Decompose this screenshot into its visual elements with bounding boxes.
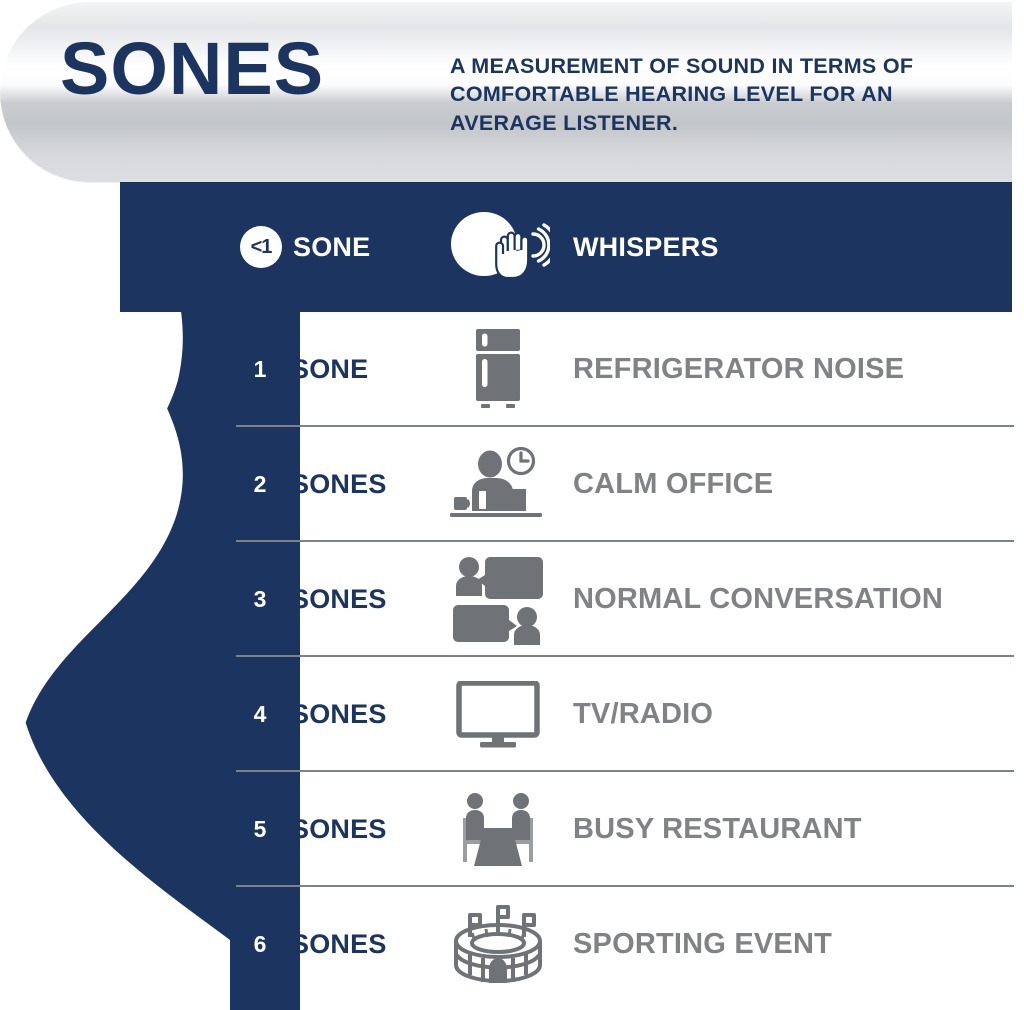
status-badge: 3	[240, 580, 280, 620]
badge-group: 5 SONES	[240, 810, 430, 850]
badge-group: 4 SONES	[240, 695, 430, 735]
sone-level-list: <1 SONE	[0, 182, 1024, 1002]
icon-cell	[430, 447, 565, 523]
list-item: 3 SONES NORMAL CONVERSATION	[0, 542, 1024, 657]
list-item: 4 SONES TV/RADIO	[0, 657, 1024, 772]
unit-label: SONES	[291, 584, 387, 615]
status-badge: 5	[240, 810, 280, 850]
list-item: 2 SONES	[0, 427, 1024, 542]
icon-cell	[430, 328, 565, 412]
restaurant-table-icon	[451, 788, 545, 872]
refrigerator-icon	[464, 328, 532, 412]
office-desk-icon	[448, 447, 548, 523]
unit-label: SONE	[293, 232, 370, 263]
list-item: 6 SONES	[0, 887, 1024, 1002]
badge-group: 6 SONES	[240, 925, 430, 965]
sones-infographic: SONES A MEASUREMENT OF SOUND IN TERMS OF…	[0, 0, 1024, 1010]
conversation-icon	[452, 555, 544, 645]
unit-label: SONES	[291, 469, 387, 500]
badge-group: <1 SONE	[240, 226, 430, 268]
icon-cell	[430, 788, 565, 872]
page-title: SONES	[60, 32, 324, 106]
level-label: BUSY RESTAURANT	[565, 813, 1024, 846]
icon-cell	[430, 208, 565, 286]
status-badge: 6	[240, 925, 280, 965]
badge-group: 1 SONE	[240, 350, 430, 390]
status-badge: 1	[240, 350, 280, 390]
level-label: SPORTING EVENT	[565, 928, 1024, 961]
header-banner: SONES A MEASUREMENT OF SOUND IN TERMS OF…	[0, 2, 1012, 182]
status-badge: 4	[240, 695, 280, 735]
icon-cell	[430, 681, 565, 749]
level-label: WHISPERS	[565, 232, 1024, 263]
badge-group: 2 SONES	[240, 465, 430, 505]
icon-cell	[430, 555, 565, 645]
status-badge: 2	[240, 465, 280, 505]
unit-label: SONE	[291, 354, 368, 385]
list-item: 1 SONE REFRIGERATOR NOISE	[0, 312, 1024, 427]
unit-label: SONES	[291, 929, 387, 960]
unit-label: SONES	[291, 814, 387, 845]
list-item: <1 SONE	[0, 182, 1024, 312]
level-label: NORMAL CONVERSATION	[565, 583, 1024, 616]
badge-group: 3 SONES	[240, 580, 430, 620]
unit-label: SONES	[291, 699, 387, 730]
television-icon	[456, 681, 540, 749]
whisper-icon	[446, 208, 550, 286]
list-item: 5 SONES	[0, 772, 1024, 887]
level-label: TV/RADIO	[565, 698, 1024, 731]
level-label: CALM OFFICE	[565, 468, 1024, 501]
header-subtitle: A MEASUREMENT OF SOUND IN TERMS OF COMFO…	[450, 52, 995, 137]
icon-cell	[430, 903, 565, 987]
status-badge: <1	[240, 226, 282, 268]
level-label: REFRIGERATOR NOISE	[565, 353, 1024, 386]
stadium-icon	[448, 903, 548, 987]
